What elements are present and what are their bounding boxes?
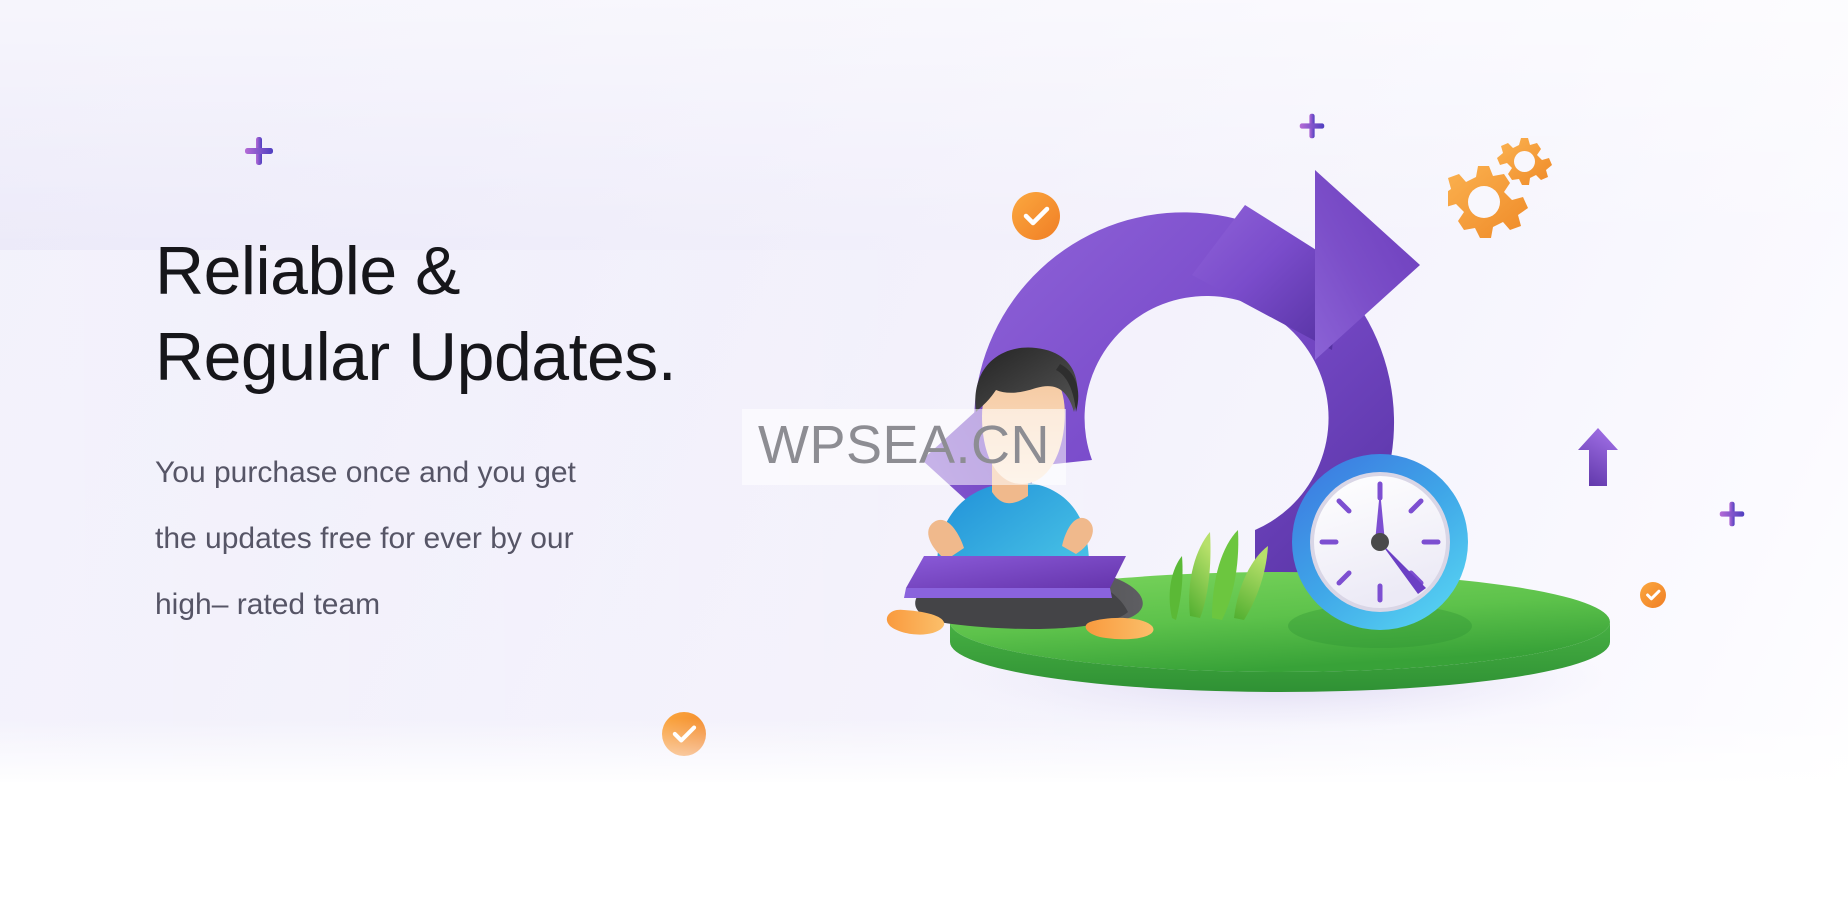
- wall-clock: [1288, 454, 1472, 648]
- arrow-up-icon: [1578, 428, 1618, 486]
- watermark-text: WPSEA.CN: [742, 409, 1066, 485]
- check-circle-icon: [1012, 192, 1060, 240]
- check-circle-icon: [662, 712, 706, 756]
- hero-banner: Reliable & Regular Updates. You purchase…: [0, 0, 1848, 900]
- hero-description-line-2: the updates free for ever by our: [155, 522, 574, 555]
- gear-pair: [1448, 132, 1566, 249]
- check-circle-icon: [1640, 582, 1666, 608]
- hero-description-line-1: You purchase once and you get: [155, 456, 576, 489]
- page-title-line-2: Regular Updates.: [155, 314, 855, 400]
- plus-icon: [243, 135, 275, 167]
- plus-icon: [1718, 500, 1746, 528]
- person-with-laptop: [887, 348, 1154, 640]
- hero-description-line-3: high– rated team: [155, 588, 380, 621]
- page-title-line-1: Reliable &: [155, 233, 460, 309]
- plus-mark-right: [1718, 500, 1746, 528]
- arrow-up-mark: [1578, 428, 1618, 491]
- check-badge-lower: [662, 712, 706, 761]
- page-title: Reliable & Regular Updates.: [155, 228, 855, 400]
- gears-icon: [1448, 132, 1566, 244]
- check-badge-upper: [1012, 192, 1060, 245]
- plus-mark-left: [243, 135, 275, 167]
- check-badge-small: [1640, 582, 1666, 613]
- hero-description: You purchase once and you get the update…: [155, 440, 795, 638]
- background-bottom-strip: [0, 782, 1848, 900]
- plus-mark-top: [1298, 112, 1326, 140]
- plus-icon: [1298, 112, 1326, 140]
